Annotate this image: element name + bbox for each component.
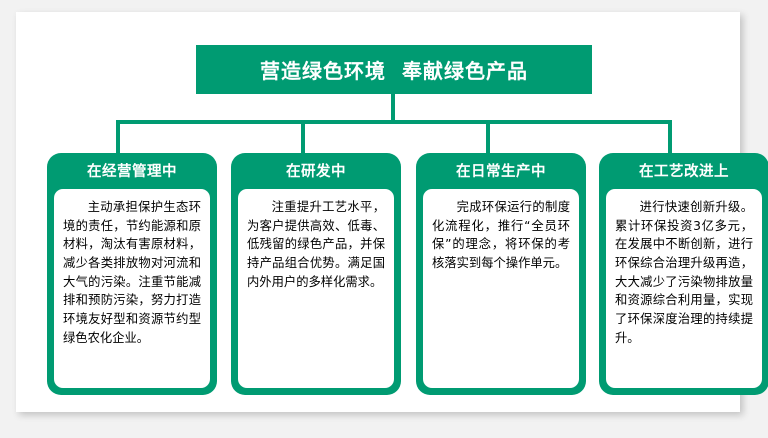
branch-card-body: 主动承担保护生态环境的责任，节约能源和原材料，淘汰有害原材料，减少各类排放物对河… [54, 189, 210, 388]
branch-header-label: 在日常生产中 [456, 160, 546, 181]
branch-card-header: 在研发中 [231, 153, 401, 187]
page-sheet: 营造绿色环境 奉献绿色产品 在经营管理中 主动承担保护生态环境的责任，节约能源和… [16, 12, 740, 412]
branch-card-body: 注重提升工艺水平，为客户提供高效、低毒、低残留的绿色产品，并保持产品组合优势。满… [238, 189, 394, 388]
diagram-canvas: 营造绿色环境 奉献绿色产品 在经营管理中 主动承担保护生态环境的责任，节约能源和… [0, 0, 768, 438]
branch-header-label: 在经营管理中 [87, 160, 177, 181]
branch-card-production: 在日常生产中 完成环保运行的制度化流程化，推行“全员环保”的理念，将环保的考核落… [416, 153, 586, 395]
connector-drop-2 [301, 120, 305, 156]
connector-trunk [391, 94, 395, 123]
branch-card-process: 在工艺改进上 进行快速创新升级。累计环保投资3亿多元，在发展中不断创新，进行环保… [599, 153, 768, 395]
branch-body-text: 主动承担保护生态环境的责任，节约能源和原材料，淘汰有害原材料，减少各类排放物对河… [63, 198, 201, 348]
page-title: 营造绿色环境 奉献绿色产品 [260, 55, 528, 84]
branch-card-body: 完成环保运行的制度化流程化，推行“全员环保”的理念，将环保的考核落实到每个操作单… [423, 189, 579, 388]
connector-horizontal-bar [116, 120, 672, 124]
branch-card-header: 在经营管理中 [47, 153, 217, 187]
branch-card-management: 在经营管理中 主动承担保护生态环境的责任，节约能源和原材料，淘汰有害原材料，减少… [47, 153, 217, 395]
branch-card-rnd: 在研发中 注重提升工艺水平，为客户提供高效、低毒、低残留的绿色产品，并保持产品组… [231, 153, 401, 395]
branch-body-text: 进行快速创新升级。累计环保投资3亿多元，在发展中不断创新，进行环保综合治理升级再… [615, 198, 753, 348]
branch-card-header: 在工艺改进上 [599, 153, 768, 187]
connector-drop-3 [486, 120, 490, 156]
branch-card-body: 进行快速创新升级。累计环保投资3亿多元，在发展中不断创新，进行环保综合治理升级再… [606, 189, 762, 388]
branch-header-label: 在工艺改进上 [639, 160, 729, 181]
branch-body-text: 注重提升工艺水平，为客户提供高效、低毒、低残留的绿色产品，并保持产品组合优势。满… [247, 198, 385, 291]
branch-header-label: 在研发中 [286, 160, 346, 181]
diagram-title-node: 营造绿色环境 奉献绿色产品 [196, 45, 592, 94]
branch-card-header: 在日常生产中 [416, 153, 586, 187]
branch-body-text: 完成环保运行的制度化流程化，推行“全员环保”的理念，将环保的考核落实到每个操作单… [432, 198, 570, 273]
connector-drop-1 [116, 120, 120, 156]
connector-drop-4 [668, 120, 672, 156]
